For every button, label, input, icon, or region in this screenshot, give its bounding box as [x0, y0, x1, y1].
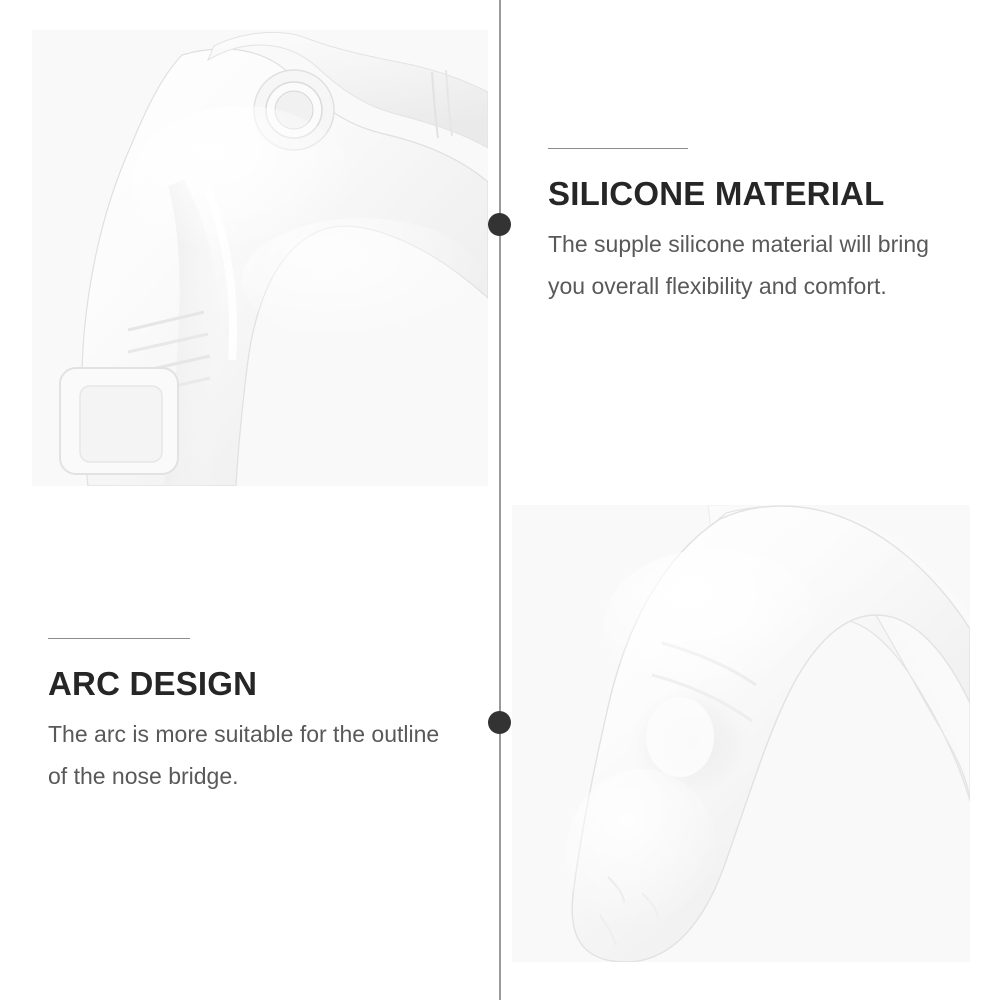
timeline-divider-line — [499, 0, 501, 1000]
feature-body-line-2: of the nose bridge. — [48, 763, 239, 789]
nose-pad-highlight-lower — [242, 218, 482, 342]
nose-pad-detail-illustration — [32, 30, 488, 486]
infographic-page: SILICONE MATERIAL The supple silicone ma… — [0, 0, 1000, 1000]
feature-block-arc-design: ARC DESIGN The arc is more suitable for … — [48, 638, 478, 797]
arc-pad-depression-highlight — [646, 697, 714, 777]
feature-block-silicone-material: SILICONE MATERIAL The supple silicone ma… — [548, 148, 968, 307]
feature-rule-silicone-material — [548, 148, 688, 149]
product-photo-nose-pad-detail — [32, 30, 488, 486]
feature-body-line-1: The supple silicone material will bring — [548, 231, 929, 257]
arc-pad-highlight-lower — [566, 769, 718, 941]
nose-pad-raised-block-inner — [80, 386, 162, 462]
feature-body-line-2: you overall flexibility and comfort. — [548, 273, 887, 299]
feature-heading-arc-design: ARC DESIGN — [48, 665, 478, 703]
product-photo-nose-pad-arc — [512, 505, 970, 962]
timeline-dot-silicone-material — [488, 213, 511, 236]
arc-pad-highlight-upper — [604, 549, 820, 701]
nose-pad-arc-illustration — [512, 505, 970, 962]
feature-body-line-1: The arc is more suitable for the outline — [48, 721, 439, 747]
feature-heading-silicone-material: SILICONE MATERIAL — [548, 175, 968, 213]
feature-body-silicone-material: The supple silicone material will bring … — [548, 223, 968, 307]
timeline-dot-arc-design — [488, 711, 511, 734]
feature-body-arc-design: The arc is more suitable for the outline… — [48, 713, 478, 797]
feature-rule-arc-design — [48, 638, 190, 639]
